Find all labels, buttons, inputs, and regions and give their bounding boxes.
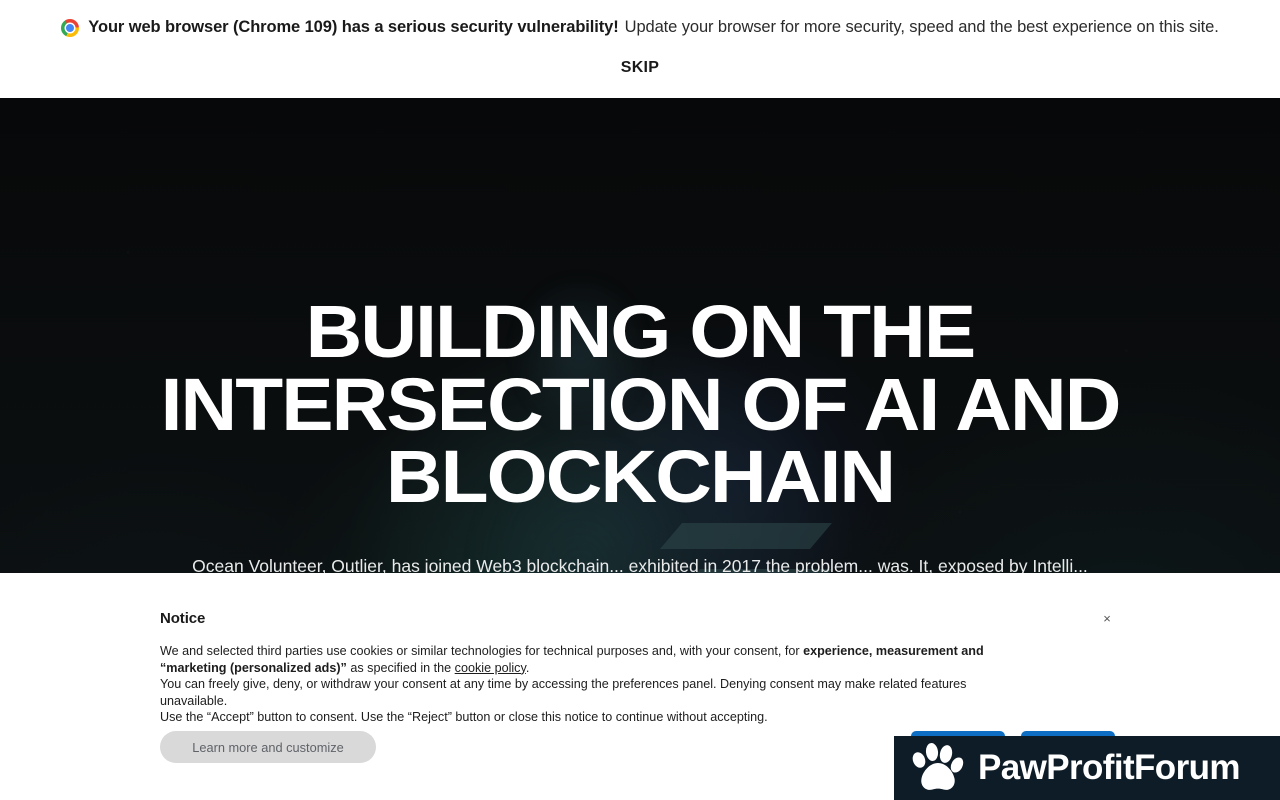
close-icon[interactable]: × [1099,611,1115,627]
watermark-overlay: PawProfitForum [894,736,1280,800]
watermark-brand-text: PawProfitForum [978,748,1240,788]
banner-headline: Your web browser (Chrome 109) has a seri… [88,18,618,37]
cookie-p1-part-b: as specified in the [347,661,455,675]
cookie-p1-part-a: We and selected third parties use cookie… [160,644,803,658]
cookie-paragraph-3: Use the “Accept” button to consent. Use … [160,709,1020,726]
browser-update-banner: Your web browser (Chrome 109) has a seri… [0,0,1280,98]
cookie-paragraph-2: You can freely give, deny, or withdraw y… [160,676,1020,709]
cookie-notice-body: We and selected third parties use cookie… [160,643,1020,726]
page-root: Your web browser (Chrome 109) has a seri… [0,0,1280,800]
banner-message: Update your browser for more security, s… [625,18,1219,37]
chrome-icon [61,19,79,37]
skip-row: SKIP [0,52,1280,84]
paw-print-icon [910,743,966,793]
skip-button[interactable]: SKIP [621,59,660,77]
learn-more-button[interactable]: Learn more and customize [160,731,376,763]
cookie-paragraph-1: We and selected third parties use cookie… [160,643,1020,676]
hero-title: Building on the Intersection of AI and B… [52,296,1229,514]
cookie-notice-title: Notice [160,610,205,627]
cookie-p1-part-c: . [526,661,530,675]
cookie-policy-link[interactable]: cookie policy [455,661,526,675]
banner-message-row: Your web browser (Chrome 109) has a seri… [0,0,1280,55]
